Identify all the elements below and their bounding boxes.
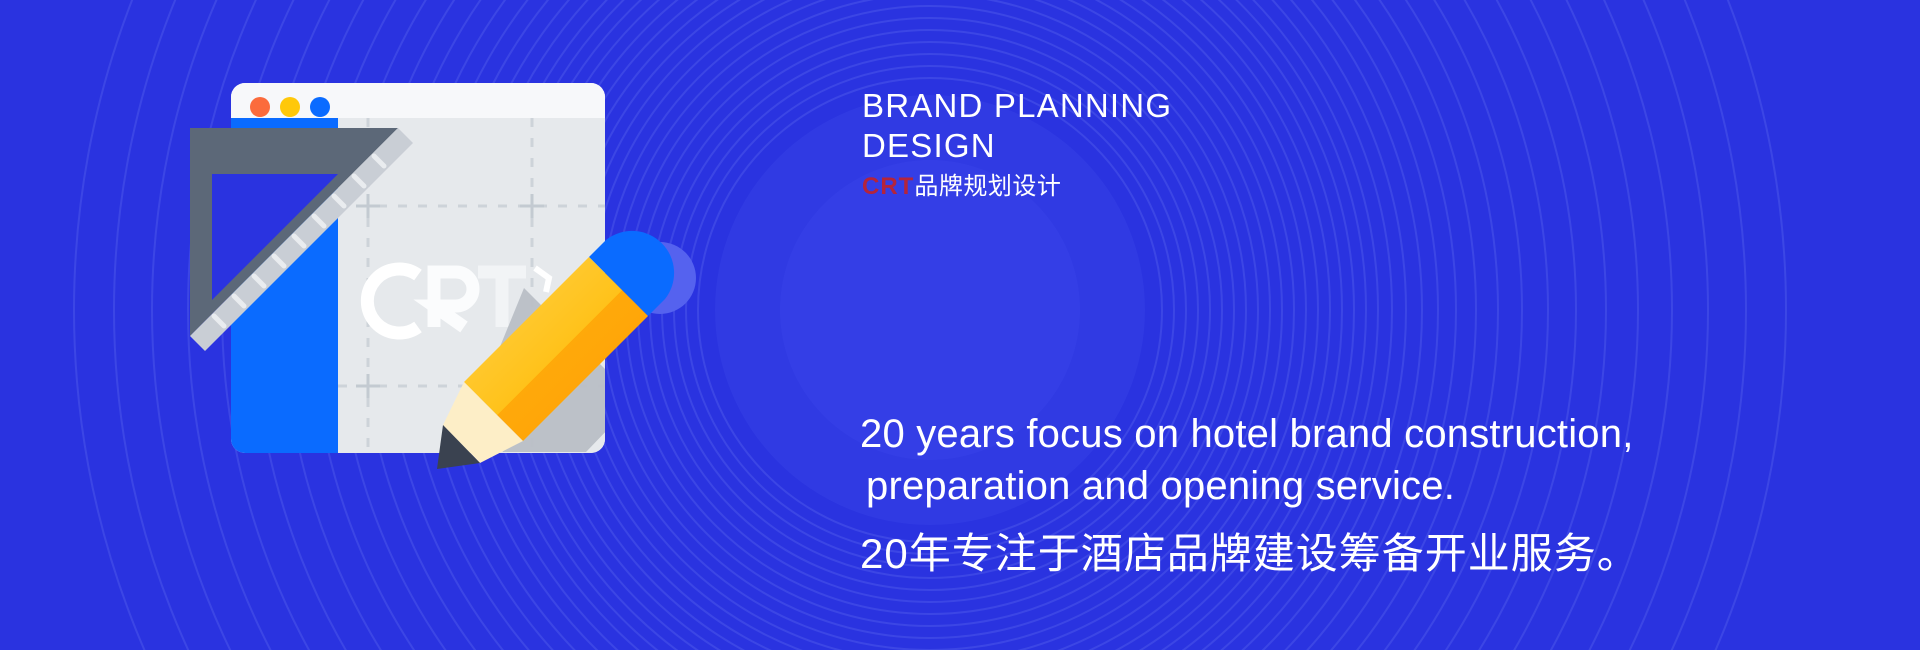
- tagline-cn-line: 20年专注于酒店品牌建设筹备开业服务。: [860, 526, 1860, 582]
- tagline-en-line-1: 20 years focus on hotel brand constructi…: [860, 408, 1860, 460]
- brand-subtitle: CRT品牌规划设计: [862, 172, 1061, 202]
- tagline-en-line-2: preparation and opening service.: [860, 460, 1860, 512]
- brand-design-illustration: [0, 0, 900, 650]
- close-dot: [250, 97, 270, 117]
- brand-subtitle-chinese: 品牌规划设计: [914, 173, 1061, 200]
- banner-root: BRAND PLANNING DESIGN CRT品牌规划设计 20 years…: [0, 0, 1920, 650]
- eyebrow-line-2: DESIGN: [862, 126, 1422, 166]
- tagline-block: 20 years focus on hotel brand constructi…: [860, 408, 1860, 582]
- maximize-dot: [310, 97, 330, 117]
- minimize-dot: [280, 97, 300, 117]
- eyebrow-heading: BRAND PLANNING DESIGN: [862, 86, 1422, 166]
- brand-subtitle-crt: CRT: [862, 173, 914, 200]
- eyebrow-line-1: BRAND PLANNING: [862, 86, 1422, 126]
